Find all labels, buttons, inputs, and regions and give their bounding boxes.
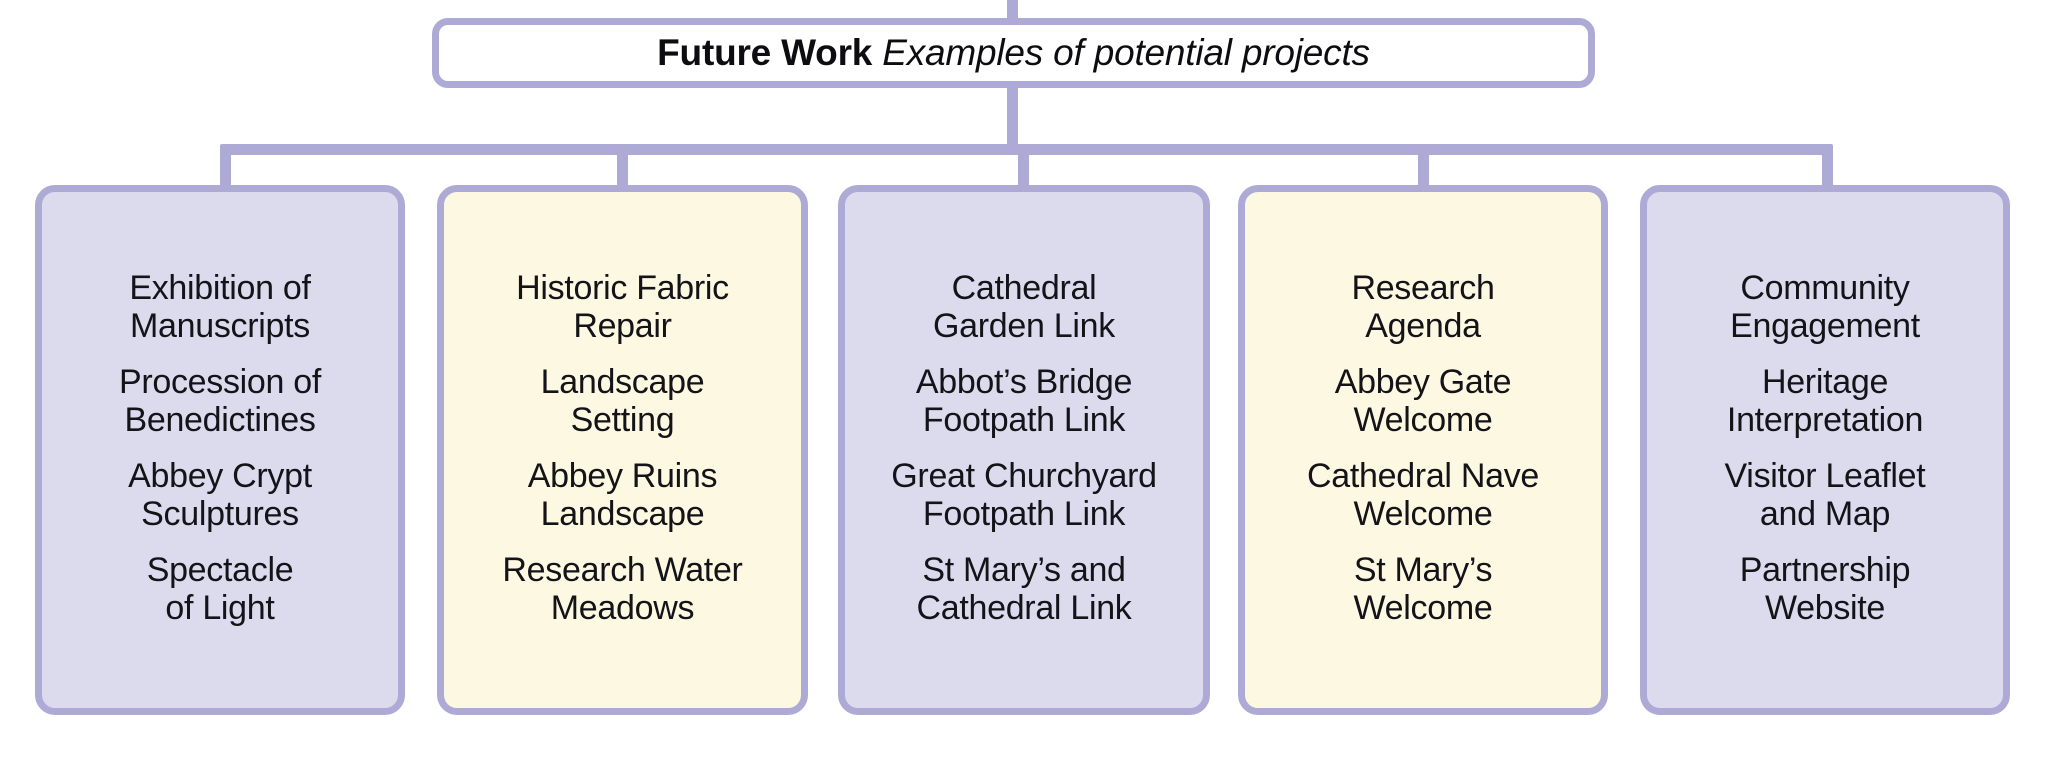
header-title-italic: Examples of potential projects bbox=[882, 32, 1370, 73]
node-research-agenda[interactable]: Research Agenda Abbey Gate Welcome Cathe… bbox=[1238, 185, 1608, 715]
node-entry: Historic Fabric Repair bbox=[450, 269, 795, 345]
node-cathedral-garden-link[interactable]: Cathedral Garden Link Abbot’s Bridge Foo… bbox=[838, 185, 1210, 715]
node-entry: Great Churchyard Footpath Link bbox=[851, 457, 1197, 533]
node-entry: Spectacle of Light bbox=[48, 551, 392, 627]
node-entry: Cathedral Garden Link bbox=[851, 269, 1197, 345]
node-entry: Procession of Benedictines bbox=[48, 363, 392, 439]
node-entry: Heritage Interpretation bbox=[1653, 363, 1997, 439]
node-entry: St Mary’s and Cathedral Link bbox=[851, 551, 1197, 627]
node-entry: Abbey Ruins Landscape bbox=[450, 457, 795, 533]
header-node-future-work[interactable]: Future Work Examples of potential projec… bbox=[432, 18, 1595, 88]
diagram-canvas: Future Work Examples of potential projec… bbox=[0, 0, 2048, 784]
node-historic-fabric-repair[interactable]: Historic Fabric Repair Landscape Setting… bbox=[437, 185, 808, 715]
node-entry: St Mary’s Welcome bbox=[1251, 551, 1595, 627]
node-community-engagement[interactable]: Community Engagement Heritage Interpreta… bbox=[1640, 185, 2010, 715]
node-exhibition-of-manuscripts[interactable]: Exhibition of Manuscripts Procession of … bbox=[35, 185, 405, 715]
node-entry: Community Engagement bbox=[1653, 269, 1997, 345]
node-entry: Abbot’s Bridge Footpath Link bbox=[851, 363, 1197, 439]
node-entry: Research Agenda bbox=[1251, 269, 1595, 345]
node-entry: Abbey Crypt Sculptures bbox=[48, 457, 392, 533]
header-title-bold: Future Work bbox=[657, 32, 872, 73]
connector-stem-below-header bbox=[1007, 86, 1018, 150]
node-entry: Cathedral Nave Welcome bbox=[1251, 457, 1595, 533]
node-entry: Partnership Website bbox=[1653, 551, 1997, 627]
node-entry: Exhibition of Manuscripts bbox=[48, 269, 392, 345]
connector-stem-above-header bbox=[1007, 0, 1018, 20]
node-entry: Research Water Meadows bbox=[450, 551, 795, 627]
header-title-line: Future Work Examples of potential projec… bbox=[657, 32, 1370, 74]
node-entry: Landscape Setting bbox=[450, 363, 795, 439]
node-entry: Abbey Gate Welcome bbox=[1251, 363, 1595, 439]
node-entry: Visitor Leaflet and Map bbox=[1653, 457, 1997, 533]
